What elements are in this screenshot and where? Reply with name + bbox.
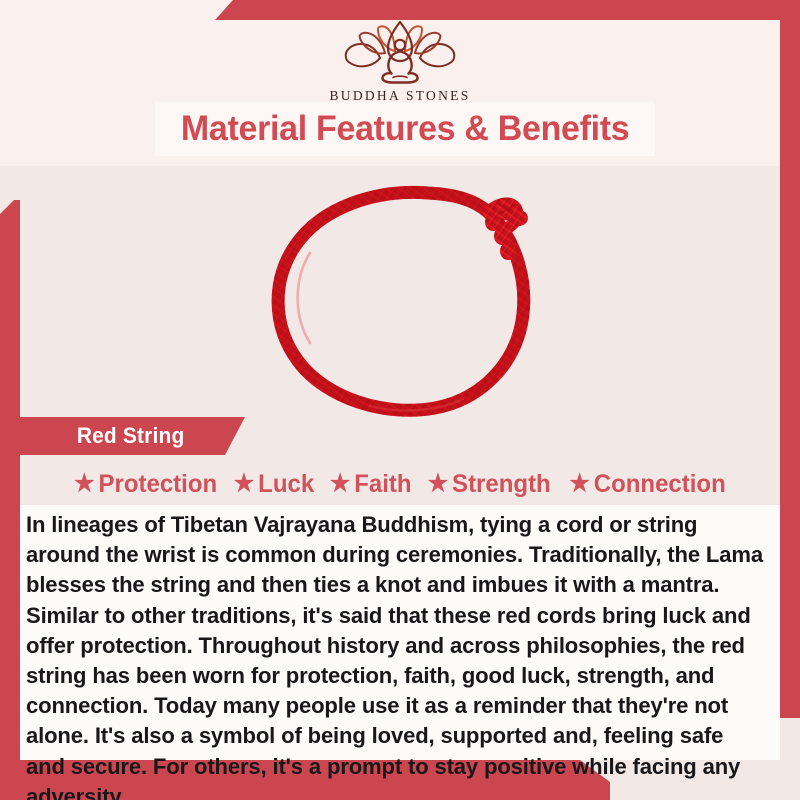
brand-logo: BUDDHA STONES: [0, 18, 800, 104]
product-name-label: Red String: [77, 423, 185, 449]
benefit-item-faith: ★ Faith: [325, 470, 416, 499]
lotus-meditation-figure-icon: [330, 18, 470, 86]
benefit-label: Connection: [594, 470, 726, 499]
product-name-banner: Red String: [20, 417, 245, 455]
star-icon: ★: [74, 472, 95, 496]
benefit-label: Strength: [453, 470, 552, 499]
decor-band-top: [215, 0, 800, 20]
infographic-page: BUDDHA STONES Material Features & Benefi…: [0, 0, 800, 800]
star-icon: ★: [428, 472, 449, 496]
red-braided-string-bracelet-icon: [250, 168, 580, 430]
benefit-label: Faith: [354, 470, 411, 499]
decor-band-left: [0, 200, 20, 760]
star-icon: ★: [234, 472, 255, 496]
decor-band-right: [780, 18, 800, 718]
star-icon: ★: [569, 472, 590, 496]
benefit-item-strength: ★ Strength: [423, 470, 556, 499]
page-title: Material Features & Benefits: [181, 109, 629, 149]
benefit-label: Protection: [99, 470, 218, 499]
product-image: [250, 168, 580, 430]
star-icon: ★: [330, 472, 351, 496]
description-text: In lineages of Tibetan Vajrayana Buddhis…: [26, 510, 767, 800]
benefit-label: Luck: [259, 470, 315, 499]
benefit-item-connection: ★ Connection: [564, 470, 730, 499]
page-title-banner: Material Features & Benefits: [155, 102, 655, 156]
benefits-list: ★ Protection ★ Luck ★ Faith ★ Strength ★…: [24, 466, 776, 502]
benefit-item-luck: ★ Luck: [229, 470, 319, 499]
benefit-item-protection: ★ Protection: [69, 470, 222, 499]
